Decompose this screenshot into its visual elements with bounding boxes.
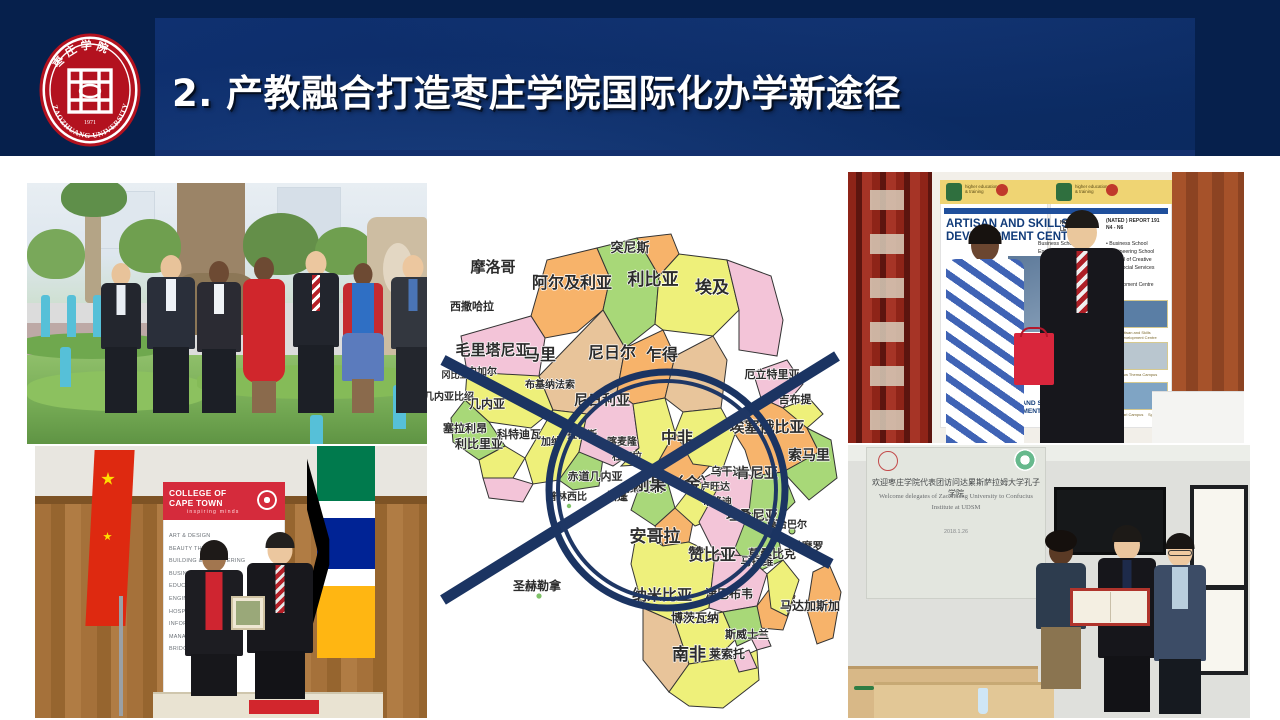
map-country-label: 毛里塔尼亚 [455,341,530,359]
fence-post [310,415,323,444]
dept-coat-of-arms-icon [946,183,962,201]
gift-bag [1014,333,1054,385]
map-country-label: 南非 [672,644,706,665]
foliage [27,229,85,279]
college-of-cape-town-photo: COLLEGE OFCAPE TOWN inspiring minds ART … [35,446,435,718]
gift-plaque-art [236,601,260,625]
fence-post [60,347,71,387]
person-shirt [1172,567,1188,609]
curtain-beads [870,190,904,440]
page-title: 2. 产教融合打造枣庄学院国际化办学新途径 [172,63,901,117]
person-glasses-icon [1168,550,1192,556]
person [145,255,197,413]
africa-map: 摩洛哥西撒哈拉阿尔及利亚突尼斯利比亚埃及毛里塔尼亚马里尼日尔乍得塞内加尔布基纳法… [427,160,848,720]
person-guest [1038,215,1126,443]
confucius-institute-udsm-photo: 欢迎枣庄学院代表团访问达累斯萨拉姆大学孔子学院 Welcome delegate… [848,445,1250,718]
person-in-floral-skirt [341,263,385,413]
gift-bag-handle [1020,327,1048,337]
person-legs [153,347,189,413]
banner-blue-rule [944,208,1168,214]
person-legs [191,654,237,696]
map-country-label: 科特迪瓦 [497,427,541,441]
person-legs [252,381,276,413]
person-dress [243,279,285,383]
campus-thumbnail-label: Artisan and Skills Development Centre [1120,330,1170,340]
person-legs [1104,656,1150,712]
svg-text:1971: 1971 [84,120,96,126]
person-red-blouse [206,572,223,630]
palm-fronds [61,183,127,217]
map-country-label: 摩洛哥 [470,258,515,276]
person-necktie [1077,251,1088,313]
person-legs [1041,627,1081,689]
map-country-label: 博茨瓦纳 [671,610,719,625]
fence-post [41,295,50,337]
slide-root: 枣 庄 学 院 ZAOZHUANG UNIVERSITY 1971 2. 产教融… [0,0,1280,720]
dept-coat-of-arms-icon [1056,183,1072,201]
dept-label: higher education& training [1075,184,1107,195]
screen-date: 2018.1.26 [872,529,1040,535]
desk [874,682,1054,718]
person-hair [200,540,228,560]
water-bottle [978,688,988,714]
person [195,261,243,413]
campus-thumbnail [1120,342,1168,370]
confucius-institute-logo-icon [1014,449,1036,471]
college-banner-title: COLLEGE OFCAPE TOWN [169,488,253,508]
fence-post [67,295,76,337]
map-country-label: 塞拉利昂 [442,421,487,435]
person-legs [105,347,137,413]
college-banner-tagline: inspiring minds [187,509,240,515]
map-country-label: 乍得 [646,345,678,364]
person-in-red-dress [241,257,287,413]
map-country-label: 阿尔及利亚 [532,273,612,292]
map-country-label: 利比里亚 [455,436,503,451]
draped-table [1152,391,1244,443]
header-underline [155,150,1195,156]
map-country-label: 斯威士兰 [725,627,769,641]
person-hair [1045,530,1077,552]
gift-album-spread [1110,592,1111,622]
flag-pole [119,596,123,716]
map-country-label: 突尼斯 [610,240,649,256]
person [99,263,143,413]
person-head [254,257,274,281]
delegation-group-photo [27,183,427,444]
person-staff [1152,538,1208,714]
logo-badge-icon [996,184,1008,196]
zaozhuang-university-seal-icon: 枣 庄 学 院 ZAOZHUANG UNIVERSITY 1971 [38,32,142,148]
map-country-label: 西撒哈拉 [450,299,494,313]
map-country-label: 莱索托 [709,646,745,661]
dept-label: higher education& training [965,184,997,195]
campus-thumbnail-label: Kwa Thema Campus [1120,372,1170,377]
person-shirt [214,284,224,314]
map-country-label: 利比亚 [628,269,679,290]
map-country-label: 布基纳法索 [525,378,575,391]
screen-title-en: Welcome delegates of Zaozhuang Universit… [872,491,1040,513]
person-necktie [312,275,320,311]
person-legs [255,651,305,699]
person-patterned-dress [946,259,1024,443]
logo-badge-icon [1106,184,1118,196]
person-legs [396,347,427,413]
person [389,255,427,413]
map-country-label: 索马里 [788,447,830,464]
map-country-label: 几内亚比绍 [427,390,474,403]
person [291,251,341,413]
map-country-label: 几内亚 [469,396,505,411]
marker-pen [854,686,874,690]
person-necktie [409,279,418,311]
person-floral-skirt [342,333,384,381]
person-shirt [117,285,126,315]
red-folder [249,700,319,714]
campus-thumbnail [1120,300,1168,328]
artisan-skills-centre-photo: higher education& training higher educat… [848,172,1244,443]
map-country-label: 圣赫勒拿 [512,578,562,593]
map-country-label: 马里 [524,345,556,364]
map-country-label: 埃及 [695,277,730,298]
map-country-label: 尼日尔 [588,343,636,362]
person-necktie [276,565,285,613]
person-legs [1159,659,1201,714]
map-country-label: 马达加斯加 [780,598,840,613]
person-legs [352,379,374,413]
person-shirt [166,279,176,311]
zaozhuang-seal-icon [878,451,898,471]
person-legs [202,349,236,413]
person-legs [298,345,334,413]
college-banner-logo-icon [257,490,277,510]
person-cardigan [343,283,383,337]
